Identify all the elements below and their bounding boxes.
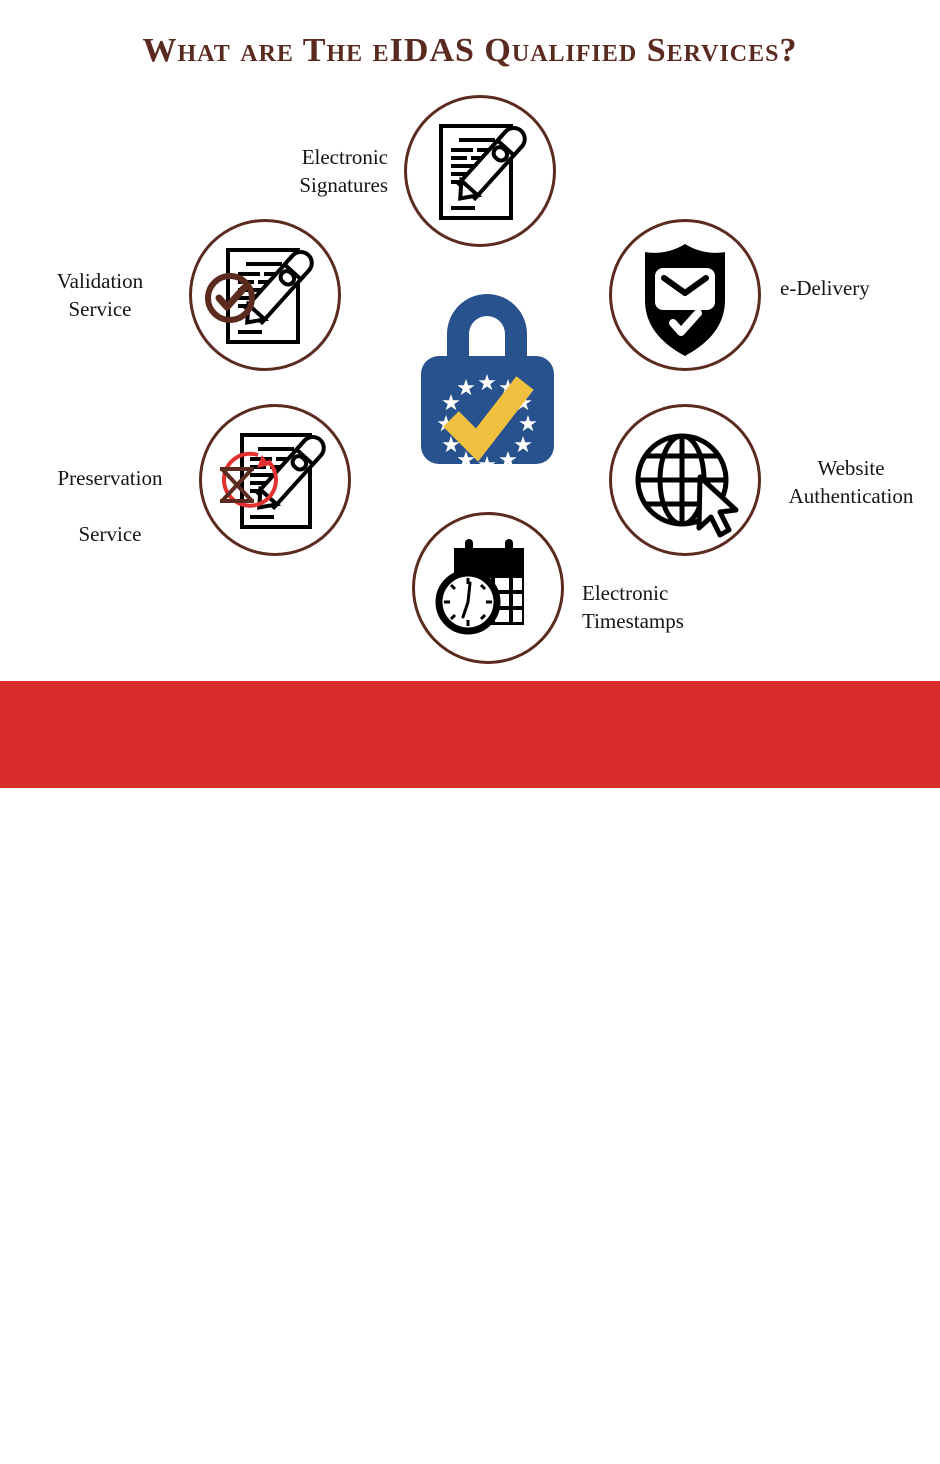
icon-validation-service <box>189 219 341 371</box>
logo-lsti-text: LSTI <box>80 1384 171 1430</box>
page-title: What are The eIDAS Qualified Services? <box>0 32 940 70</box>
document-pencil-icon <box>407 98 553 244</box>
label-electronic-signatures: Electronic Signatures <box>228 143 388 199</box>
eu-trust-mark-padlock <box>415 272 560 467</box>
logo-tagline: Worldwide <box>24 1435 159 1464</box>
footer-website-url[interactable]: LSTI-CERTIFICATION.EU <box>300 1406 640 1431</box>
icon-electronic-timestamps <box>412 512 564 664</box>
document-pencil-hourglass-icon <box>202 407 348 553</box>
calendar-clock-icon <box>415 515 561 661</box>
label-e-delivery: e-Delivery <box>780 274 940 302</box>
icon-website-authentication <box>609 404 761 556</box>
logo-registered-mark: ® <box>194 1387 201 1397</box>
logo-wordmark: LSTI ® <box>66 1383 216 1433</box>
shield-envelope-check-icon <box>612 222 758 368</box>
footer-bar: LSTI ® Worldwide LSTI-CERTIFICATION.EU <box>0 681 940 788</box>
label-electronic-timestamps: Electronic Timestamps <box>582 579 762 635</box>
label-validation-service: Validation Service <box>20 267 180 323</box>
lsti-logo: LSTI ® Worldwide <box>24 1383 224 1463</box>
label-preservation-service: Preservation Service <box>20 450 200 562</box>
icon-electronic-signatures <box>404 95 556 247</box>
padlock-icon <box>415 272 560 467</box>
icon-e-delivery <box>609 219 761 371</box>
label-website-authentication: Website Authentication <box>762 454 940 510</box>
globe-cursor-icon <box>612 407 758 553</box>
document-pencil-check-icon <box>192 222 338 368</box>
icon-preservation-service <box>199 404 351 556</box>
logo-dot-grid-icon <box>24 1387 60 1429</box>
